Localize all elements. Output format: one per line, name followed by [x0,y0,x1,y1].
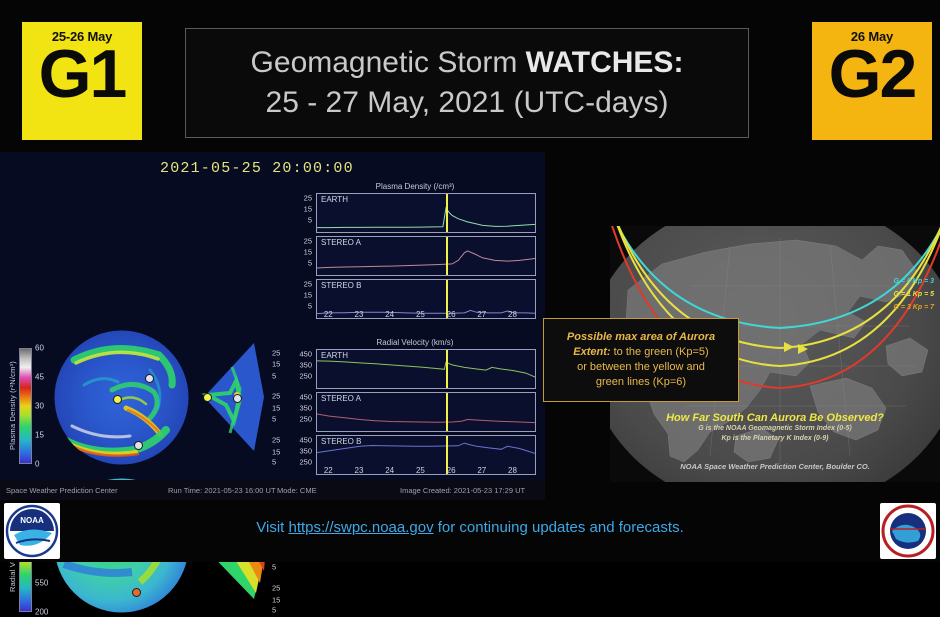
ytick: 5 [308,302,312,311]
sat-stereo-a-marker-density [145,374,154,383]
sat-earth-marker-merid-density [203,393,212,402]
nws-logo-icon [880,503,936,559]
enlil-side-ticks-density: 25 15 5 25 15 5 25 15 5 [272,347,290,462]
ytick: 15 [304,204,312,213]
map-sub-g-index: G is the NOAA Geomagnetic Storm Index (0… [610,425,940,432]
ytick: 450 [299,435,312,444]
xtick: 25 [416,310,425,319]
side-tick-d-5: 5 [272,415,276,424]
timeseries-yticks-density-1: 25155 [290,236,312,274]
title-box: Geomagnetic Storm WATCHES: 25 - 27 May, … [185,28,749,138]
colorbar-plasma-density-gradient [19,348,32,464]
xtick: 22 [324,310,333,319]
xtick: 22 [324,466,333,475]
callout-line3: or between the yellow and [577,360,705,375]
svg-text:NOAA: NOAA [20,516,44,525]
shock-arrival-marker [446,393,448,431]
cbar-v-tick-4: 200 [35,608,48,617]
footer-prefix: Visit [256,519,288,536]
ytick: 5 [308,216,312,225]
shock-arrival-marker [446,237,448,275]
footer-suffix: for continuing updates and forecasts. [434,519,684,536]
side-tick-d-8: 5 [272,458,276,467]
side-tick-d-4: 15 [272,403,280,412]
timeseries-yticks-density-0: 25155 [290,193,312,231]
enlil-model-panel: 2021-05-25 20:00:00 Plasma Density (r²N/… [0,152,545,500]
xtick: 24 [385,310,394,319]
xtick: 26 [447,310,456,319]
title-bold: WATCHES: [526,46,684,79]
noaa-logo-icon: NOAA [4,503,60,559]
callout-line2-rest: to the green (Kp=5) [611,346,709,358]
sat-earth-marker-density [113,395,122,404]
timeseries-curve [317,194,535,232]
colorbar-plasma-density-ticks: 60 45 30 15 0 [35,348,55,464]
ytick: 450 [299,349,312,358]
map-legend-kp3: G = 0 Kp = 3 [894,278,934,285]
cbar-d-tick-0: 60 [35,344,44,353]
timeseries-yticks-velocity-0: 450350250 [290,349,312,387]
cbar-d-tick-3: 15 [35,431,44,440]
enlil-timestamp: 2021-05-25 20:00:00 [160,160,354,177]
timeseries-yticks-density-2: 25155 [290,279,312,317]
colorbar-plasma-density: Plasma Density (r²N/cm³) 60 45 30 15 0 [8,348,55,464]
side-tick-v-8: 5 [272,606,276,615]
shock-arrival-marker [446,350,448,388]
enlil-footer-created: Image Created: 2021-05-23 17:29 UT [400,486,525,495]
storm-badge-g1: 25-26 May G1 [22,22,142,140]
cbar-d-tick-1: 45 [35,373,44,382]
xtick: 28 [508,310,517,319]
xtick: 25 [416,466,425,475]
side-tick-v-7: 15 [272,595,280,604]
badge-g1-level: G1 [39,42,126,107]
timeseries-density-xticks: 22232425262728 [316,310,534,322]
map-credit: NOAA Space Weather Prediction Center, Bo… [610,462,940,471]
ytick: 5 [308,259,312,268]
ytick: 15 [304,247,312,256]
poster-root: 25-26 May G1 Geomagnetic Storm WATCHES: … [0,0,940,562]
xtick: 27 [477,466,486,475]
sat-stereo-b-marker-density [134,441,143,450]
callout-line4: green lines (Kp=6) [596,375,686,390]
cbar-v-tick-3: 550 [35,579,48,588]
xtick: 23 [355,466,364,475]
ytick: 250 [299,372,312,381]
storm-badge-g2: 26 May G2 [812,22,932,140]
enlil-footer: Space Weather Prediction Center Run Time… [0,480,545,500]
xtick: 28 [508,466,517,475]
map-legend-kp7: G = 3 Kp = 7 [894,304,934,311]
ytick: 25 [304,279,312,288]
page-footer: Visit https://swpc.noaa.gov for continui… [0,500,940,562]
sat-stereo-b-marker-velocity [132,588,141,597]
callout-line2: Extent: to the green (Kp=5) [573,345,708,360]
sat-stereo-marker-merid-density [233,394,242,403]
badge-g2-level: G2 [829,42,916,107]
ytick: 250 [299,415,312,424]
ytick: 350 [299,446,312,455]
timeseries-subplot-velocity-1: STEREO A [316,392,536,432]
side-tick-d-7: 15 [272,447,280,456]
ytick: 25 [304,193,312,202]
shock-arrival-marker [446,194,448,232]
side-tick-d-1: 15 [272,360,280,369]
ytick: 350 [299,403,312,412]
side-tick-d-2: 5 [272,371,276,380]
timeseries-velocity-title: Radial Velocity (km/s) [290,338,540,347]
enlil-footer-center: Space Weather Prediction Center [6,486,118,495]
cbar-d-tick-2: 30 [35,402,44,411]
xtick: 27 [477,310,486,319]
timeseries-density-title: Plasma Density (/cm³) [290,182,540,191]
aurora-extent-arrows [784,342,808,354]
xtick: 24 [385,466,394,475]
timeseries-subplot-density-1: STEREO A [316,236,536,276]
footer-text: Visit https://swpc.noaa.gov for continui… [0,519,940,536]
side-tick-d-6: 25 [272,436,280,445]
xtick: 23 [355,310,364,319]
ytick: 15 [304,290,312,299]
timeseries-plasma-density: Plasma Density (/cm³) EARTH25155STEREO A… [290,182,540,327]
timeseries-curve [317,350,535,388]
timeseries-yticks-velocity-2: 450350250 [290,435,312,473]
enlil-footer-mode: Mode: CME [277,486,317,495]
xtick: 26 [447,466,456,475]
callout-line1: Possible max area of Aurora [567,330,715,345]
callout-extent-label: Extent: [573,346,610,358]
timeseries-yticks-velocity-1: 450350250 [290,392,312,430]
ytick: 25 [304,236,312,245]
page-title-line1: Geomagnetic Storm WATCHES: [251,43,684,83]
timeseries-curve [317,237,535,275]
ytick: 250 [299,458,312,467]
timeseries-subplot-velocity-0: EARTH [316,349,536,389]
timeseries-curve [317,393,535,431]
title-plain: Geomagnetic Storm [251,46,526,79]
map-legend-kp5: G = 1 Kp = 5 [894,291,934,298]
timeseries-subplot-density-0: EARTH [316,193,536,233]
timeseries-velocity-xticks: 22232425262728 [316,466,534,478]
side-tick-v-6: 25 [272,584,280,593]
side-tick-d-0: 25 [272,348,280,357]
cbar-d-tick-4: 0 [35,460,39,469]
ytick: 350 [299,360,312,369]
colorbar-plasma-density-label: Plasma Density (r²N/cm³) [8,348,17,464]
map-sub-kp-index: Kp is the Planetary K Index (0-9) [610,435,940,442]
ytick: 450 [299,392,312,401]
aurora-callout-box: Possible max area of Aurora Extent: to t… [543,318,739,402]
map-question: How Far South Can Aurora Be Observed? [610,412,940,424]
side-tick-v-5: 5 [272,563,276,572]
enlil-footer-runtime: Run Time: 2021-05-23 16:00 UT [168,486,276,495]
timeseries-radial-velocity: Radial Velocity (km/s) EARTH450350250STE… [290,338,540,483]
page-title-line2: 25 - 27 May, 2021 (UTC-days) [266,83,669,123]
side-tick-d-3: 25 [272,392,280,401]
swpc-link[interactable]: https://swpc.noaa.gov [288,519,433,536]
